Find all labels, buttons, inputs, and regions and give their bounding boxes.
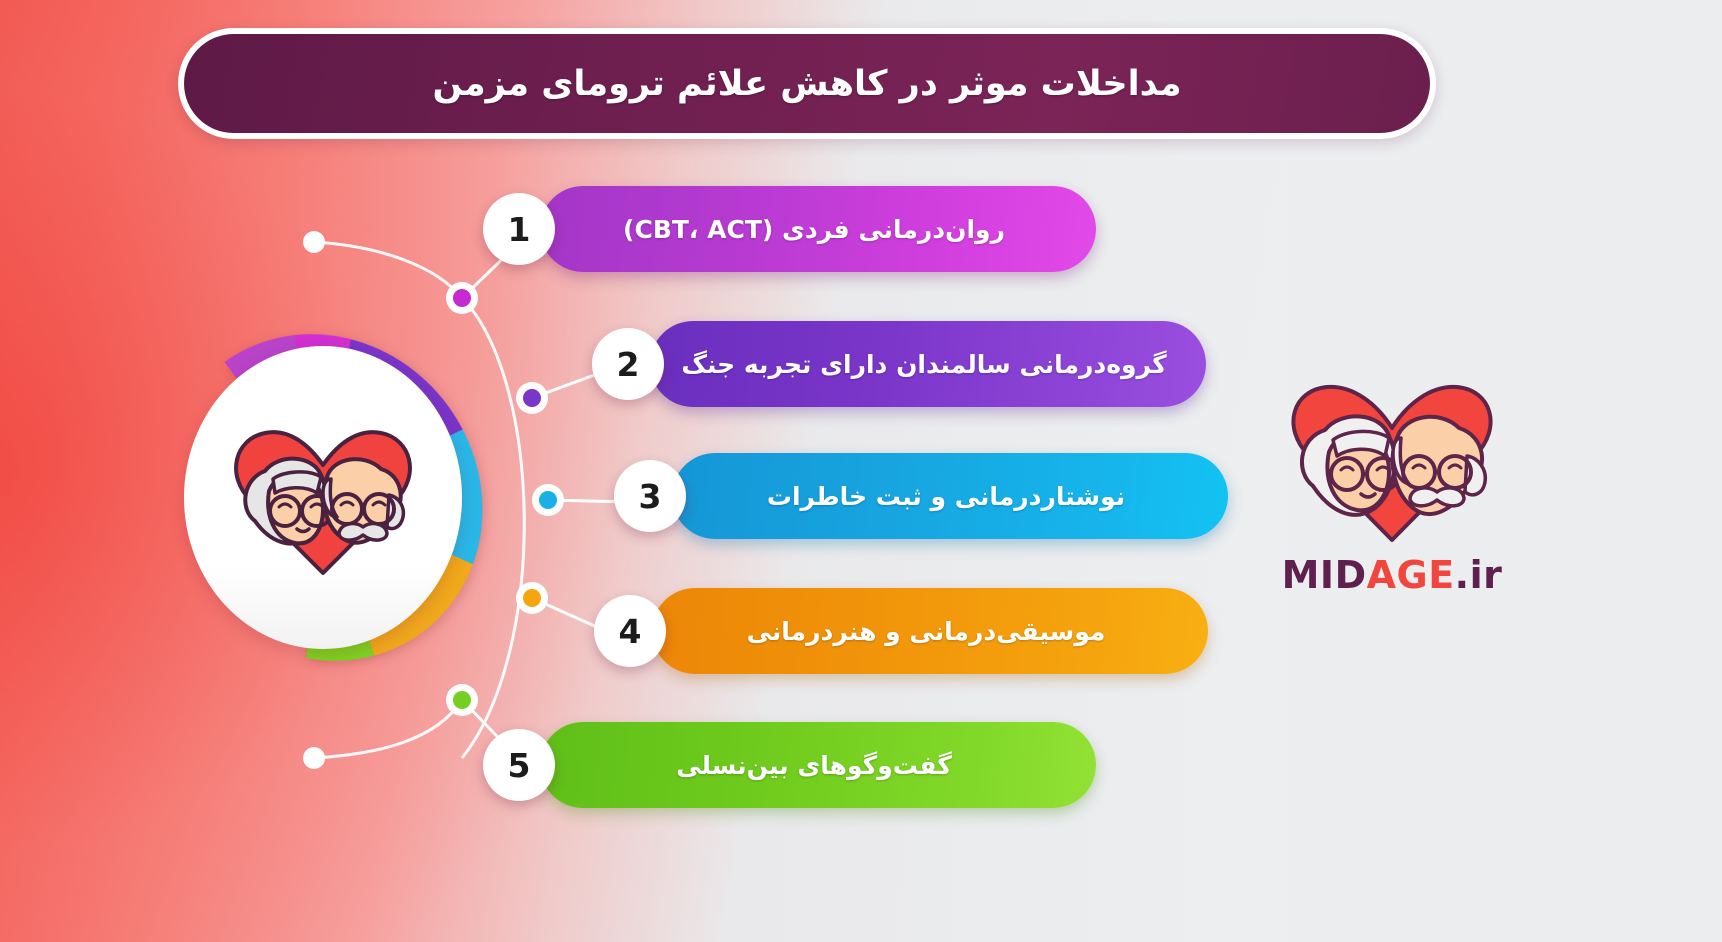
brand-logo[interactable]: MIDAGE.ir xyxy=(1252,382,1532,622)
step-label-2: گروه‌درمانی سالمندان دارای تجربه جنگ xyxy=(635,350,1220,379)
step-number-badge-4[interactable]: 4 xyxy=(594,595,666,667)
infographic-stage: مداخلات موثر در کاهش علائم ترومای مزمن xyxy=(0,0,1722,942)
step-label-5: گفت‌وگوهای بین‌نسلی xyxy=(630,751,1006,780)
brand-name-age: AGE xyxy=(1367,553,1455,597)
step-number-badge-2[interactable]: 2 xyxy=(592,328,664,400)
step-row-1[interactable]: روان‌درمانی فردی (CBT، ACT) xyxy=(540,186,1096,272)
connector-node-2 xyxy=(516,382,548,414)
elderly-couple-heart-icon xyxy=(213,413,433,583)
connector-node-1 xyxy=(446,282,478,314)
step-row-2[interactable]: گروه‌درمانی سالمندان دارای تجربه جنگ xyxy=(650,321,1206,407)
title-container: مداخلات موثر در کاهش علائم ترومای مزمن xyxy=(178,28,1436,139)
donut-center xyxy=(184,346,462,649)
step-number-badge-5[interactable]: 5 xyxy=(483,729,555,801)
elderly-couple-heart-logo xyxy=(1267,382,1517,547)
connector-end-dot-top xyxy=(303,231,325,253)
brand-name-dot: . xyxy=(1455,553,1470,597)
step-row-3[interactable]: نوشتاردرمانی و ثبت خاطرات xyxy=(672,453,1228,539)
step-number-badge-3[interactable]: 3 xyxy=(614,460,686,532)
title-bar: مداخلات موثر در کاهش علائم ترومای مزمن xyxy=(184,34,1430,133)
step-row-4[interactable]: موسیقی‌درمانی و هنردرمانی xyxy=(652,588,1208,674)
step-label-3: نوشتاردرمانی و ثبت خاطرات xyxy=(721,482,1179,511)
connector-node-4 xyxy=(516,582,548,614)
step-label-1: روان‌درمانی فردی (CBT، ACT) xyxy=(577,215,1059,244)
step-row-5[interactable]: گفت‌وگوهای بین‌نسلی xyxy=(540,722,1096,808)
page-title: مداخلات موثر در کاهش علائم ترومای مزمن xyxy=(432,64,1181,104)
connector-node-5 xyxy=(446,684,478,716)
brand-name-mid: MID xyxy=(1282,553,1367,597)
connector-end-dot-bottom xyxy=(303,747,325,769)
step-number-badge-1[interactable]: 1 xyxy=(483,193,555,265)
brand-name: MIDAGE.ir xyxy=(1282,553,1503,597)
brand-name-tld: ir xyxy=(1470,553,1503,597)
donut-chart xyxy=(168,330,478,665)
connector-node-3 xyxy=(532,484,564,516)
step-label-4: موسیقی‌درمانی و هنردرمانی xyxy=(701,617,1160,646)
